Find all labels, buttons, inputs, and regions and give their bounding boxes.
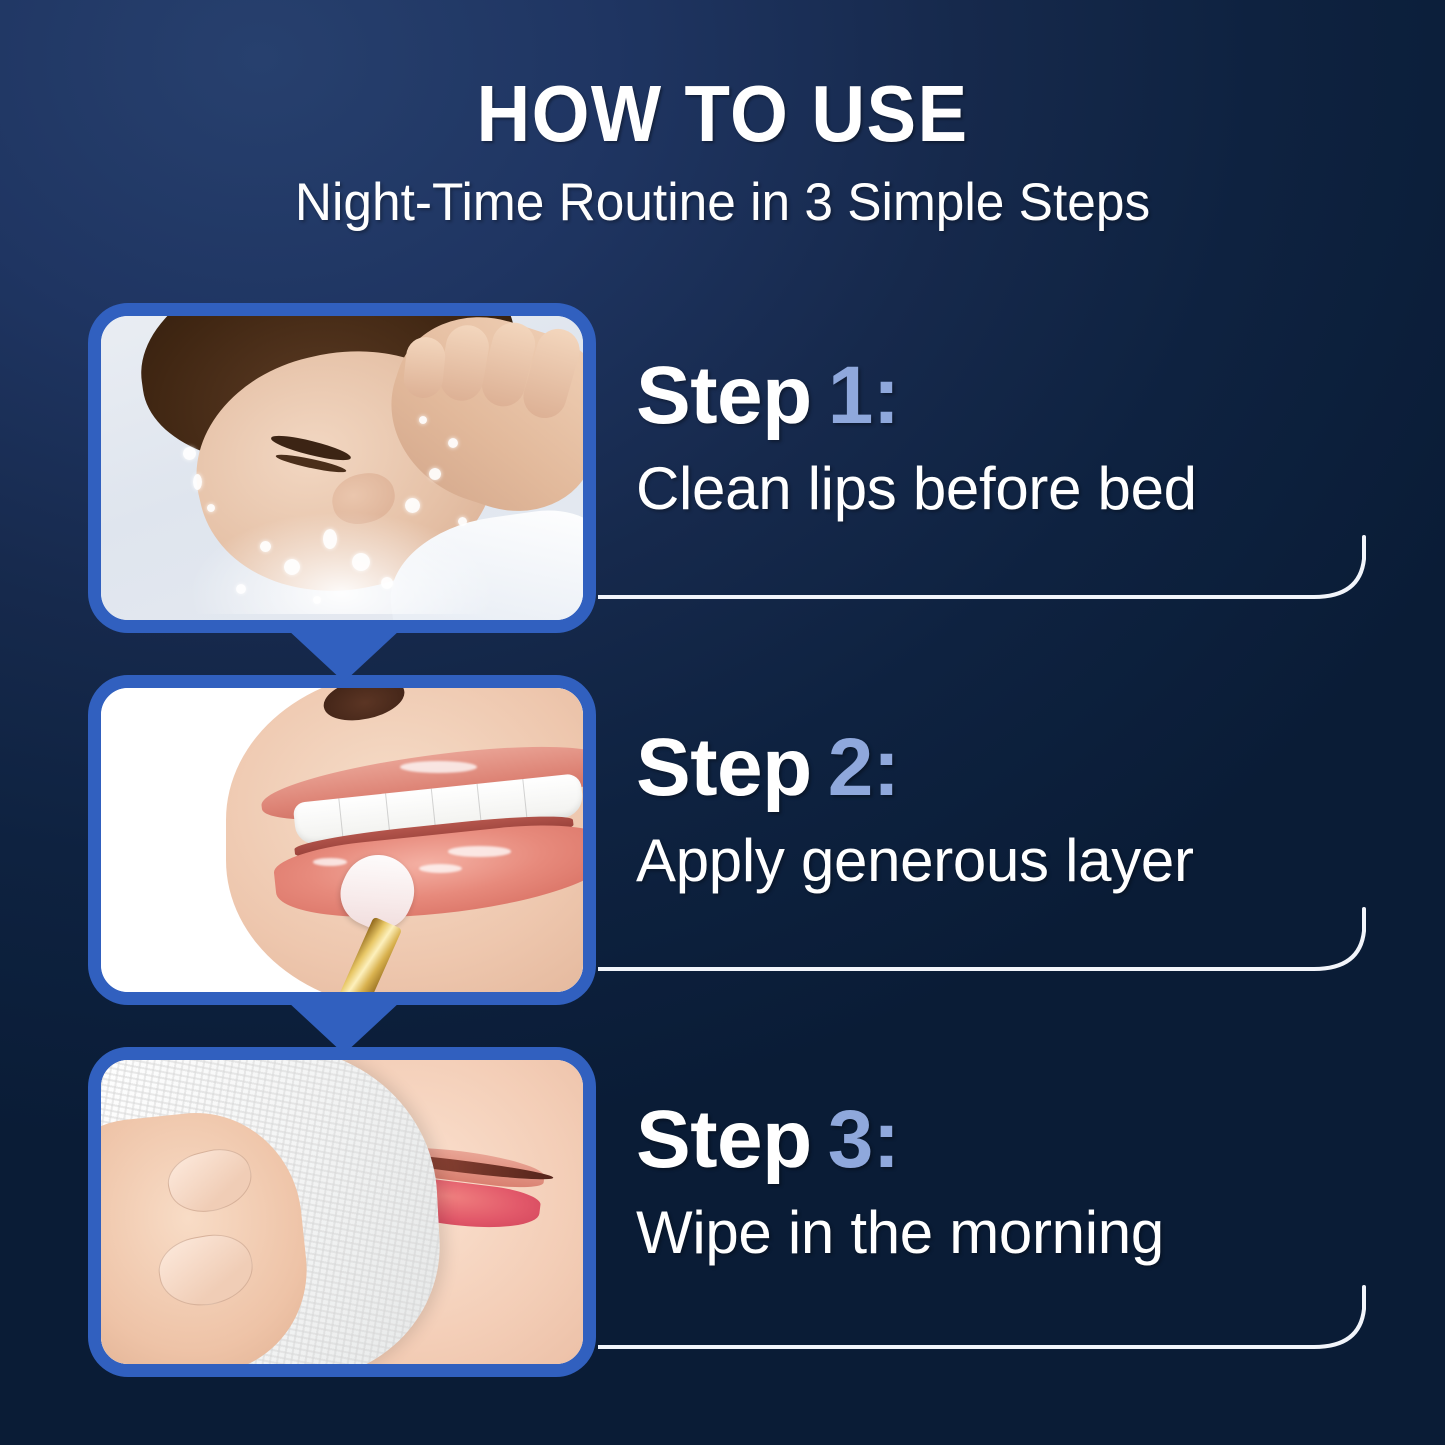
step-number: 2: [828,722,900,813]
step-text: Step3: Wipe in the morning [636,1099,1396,1263]
step-heading: Step1: [636,355,1396,437]
step-description: Clean lips before bed [636,459,1396,519]
step-number: 3: [828,1094,900,1185]
step-heading: Step3: [636,1099,1396,1181]
step-label: Step [636,722,812,813]
step-text: Step2: Apply generous layer [636,727,1396,891]
step-row: Step1: Clean lips before bed [0,303,1445,633]
step-underline [598,907,1398,987]
step-description: Wipe in the morning [636,1203,1396,1263]
step-row: Step3: Wipe in the morning [0,1047,1445,1377]
page-title: HOW TO USE [51,74,1395,154]
arrow-down-icon [288,630,400,682]
photo-wiping-lips [101,1060,583,1364]
step-underline [598,1285,1398,1365]
photo-washing-face-card [88,303,596,633]
steps-list: Step1: Clean lips before bed [0,303,1445,1377]
photo-wiping-lips-card [88,1047,596,1377]
photo-applying-balm [101,688,583,992]
photo-applying-balm-card [88,675,596,1005]
how-to-use-infographic: HOW TO USE Night-Time Routine in 3 Simpl… [0,0,1445,1445]
step-underline [598,535,1398,615]
arrow-down-icon [288,1002,400,1054]
photo-washing-face [101,316,583,620]
step-description: Apply generous layer [636,831,1396,891]
step-label: Step [636,1094,812,1185]
step-text: Step1: Clean lips before bed [636,355,1396,519]
step-number: 1: [828,350,900,441]
header: HOW TO USE Night-Time Routine in 3 Simpl… [0,74,1445,229]
page-subtitle: Night-Time Routine in 3 Simple Steps [22,176,1424,229]
step-label: Step [636,350,812,441]
step-heading: Step2: [636,727,1396,809]
step-row: Step2: Apply generous layer [0,675,1445,1005]
